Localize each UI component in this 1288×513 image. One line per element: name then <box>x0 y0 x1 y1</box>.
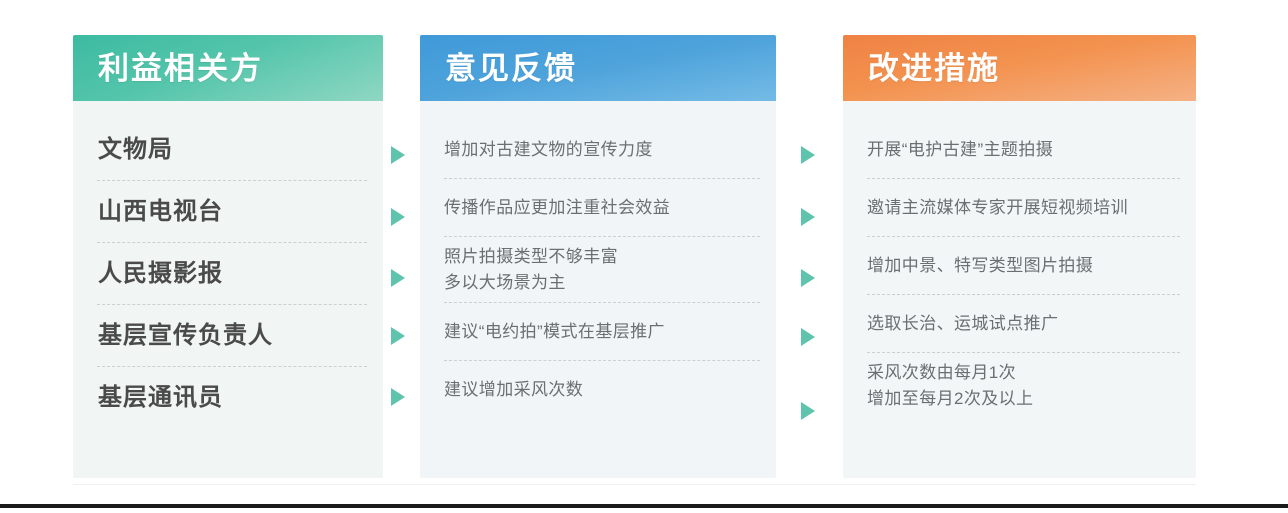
measures-title: 改进措施 <box>868 53 1000 84</box>
feedback-text-2: 传播作品应更加注重社会效益 <box>420 195 670 221</box>
stakeholder-label-2: 山西电视台 <box>73 197 223 227</box>
measures-text-5: 采风次数由每月1次 增加至每月2次及以上 <box>843 360 1033 413</box>
feedback-row-1[interactable]: 增加对古建文物的宣传力度 <box>420 121 776 179</box>
feedback-text-4: 建议“电约拍”模式在基层推广 <box>420 319 665 345</box>
measures-text-3: 增加中景、特写类型图片拍摄 <box>843 253 1093 279</box>
arrow-feedback-to-measures-1 <box>801 146 815 164</box>
stakeholder-title: 利益相关方 <box>98 53 263 84</box>
arrow-feedback-to-measures-4 <box>801 328 815 346</box>
measures-text-1: 开展“电护古建”主题拍摄 <box>843 137 1053 163</box>
measures-row-5[interactable]: 采风次数由每月1次 增加至每月2次及以上 <box>843 353 1196 419</box>
feedback-row-2[interactable]: 传播作品应更加注重社会效益 <box>420 179 776 237</box>
page-bottom-divider <box>0 504 1288 508</box>
measures-card-body: 开展“电护古建”主题拍摄 邀请主流媒体专家开展短视频培训 增加中景、特写类型图片… <box>843 101 1196 478</box>
arrow-stakeholder-to-feedback-4 <box>391 327 405 345</box>
feedback-card-body: 增加对古建文物的宣传力度 传播作品应更加注重社会效益 照片拍摄类型不够丰富 多以… <box>420 101 776 478</box>
page-faint-divider <box>73 484 1196 485</box>
feedback-text-5: 建议增加采风次数 <box>420 377 583 403</box>
feedback-row-5[interactable]: 建议增加采风次数 <box>420 361 776 419</box>
stakeholder-row-4[interactable]: 基层宣传负责人 <box>73 305 383 367</box>
stakeholder-card: 利益相关方 文物局 山西电视台 人民摄影报 基层宣传负责人 基层通讯员 <box>73 35 383 478</box>
measures-row-3[interactable]: 增加中景、特写类型图片拍摄 <box>843 237 1196 295</box>
stakeholder-row-2[interactable]: 山西电视台 <box>73 181 383 243</box>
feedback-card-header: 意见反馈 <box>420 35 776 101</box>
measures-text-2: 邀请主流媒体专家开展短视频培训 <box>843 195 1128 221</box>
arrow-feedback-to-measures-3 <box>801 269 815 287</box>
arrow-feedback-to-measures-2 <box>801 208 815 226</box>
measures-row-2[interactable]: 邀请主流媒体专家开展短视频培训 <box>843 179 1196 237</box>
stakeholder-label-1: 文物局 <box>73 135 173 165</box>
feedback-text-1: 增加对古建文物的宣传力度 <box>420 137 653 163</box>
stakeholder-label-4: 基层宣传负责人 <box>73 321 273 351</box>
measures-card: 改进措施 开展“电护古建”主题拍摄 邀请主流媒体专家开展短视频培训 增加中景、特… <box>843 35 1196 478</box>
arrow-stakeholder-to-feedback-3 <box>391 269 405 287</box>
arrow-stakeholder-to-feedback-5 <box>391 388 405 406</box>
feedback-title: 意见反馈 <box>445 53 577 84</box>
arrow-stakeholder-to-feedback-1 <box>391 146 405 164</box>
feedback-row-4[interactable]: 建议“电约拍”模式在基层推广 <box>420 303 776 361</box>
stakeholder-label-5: 基层通讯员 <box>73 383 223 413</box>
arrow-feedback-to-measures-5 <box>801 402 815 420</box>
stakeholder-label-3: 人民摄影报 <box>73 259 223 289</box>
measures-card-header: 改进措施 <box>843 35 1196 101</box>
stakeholder-row-5[interactable]: 基层通讯员 <box>73 367 383 429</box>
stakeholder-card-body: 文物局 山西电视台 人民摄影报 基层宣传负责人 基层通讯员 <box>73 101 383 478</box>
measures-text-4: 选取长治、运城试点推广 <box>843 311 1058 337</box>
stakeholder-card-header: 利益相关方 <box>73 35 383 101</box>
measures-row-4[interactable]: 选取长治、运城试点推广 <box>843 295 1196 353</box>
stakeholder-row-3[interactable]: 人民摄影报 <box>73 243 383 305</box>
measures-row-1[interactable]: 开展“电护古建”主题拍摄 <box>843 121 1196 179</box>
arrow-stakeholder-to-feedback-2 <box>391 208 405 226</box>
stakeholder-row-1[interactable]: 文物局 <box>73 119 383 181</box>
feedback-text-3: 照片拍摄类型不够丰富 多以大场景为主 <box>420 244 618 297</box>
feedback-card: 意见反馈 增加对古建文物的宣传力度 传播作品应更加注重社会效益 照片拍摄类型不够… <box>420 35 776 478</box>
diagram-board: 利益相关方 文物局 山西电视台 人民摄影报 基层宣传负责人 基层通讯员 <box>0 0 1288 504</box>
feedback-row-3[interactable]: 照片拍摄类型不够丰富 多以大场景为主 <box>420 237 776 303</box>
